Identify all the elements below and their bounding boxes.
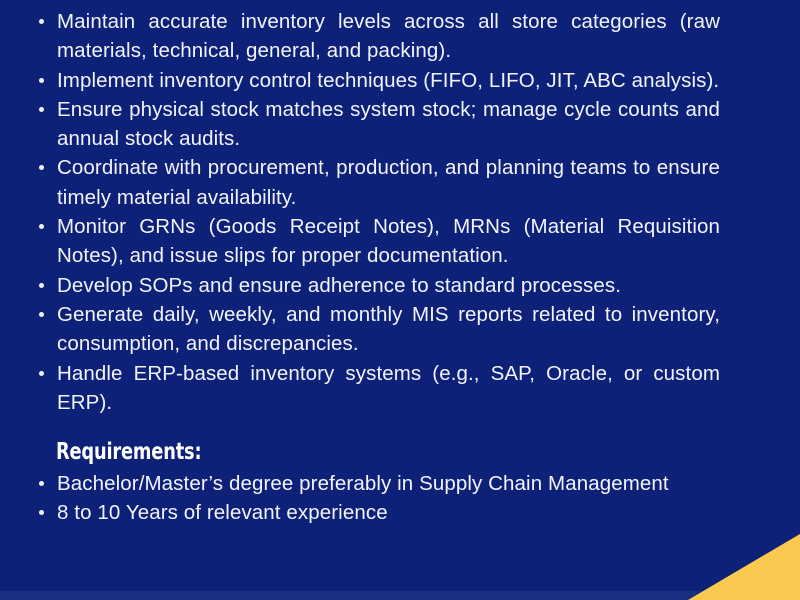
slide-content: Maintain accurate inventory levels acros… xyxy=(0,0,800,528)
list-item: Maintain accurate inventory levels acros… xyxy=(30,7,720,66)
list-item: Coordinate with procurement, production,… xyxy=(30,153,720,212)
bullet-text: Bachelor/Master’s degree preferably in S… xyxy=(57,469,720,498)
list-item: Bachelor/Master’s degree preferably in S… xyxy=(30,469,720,498)
bullet-text: Ensure physical stock matches system sto… xyxy=(57,95,720,154)
list-item: Monitor GRNs (Goods Receipt Notes), MRNs… xyxy=(30,212,720,271)
bullet-text: Develop SOPs and ensure adherence to sta… xyxy=(57,271,720,300)
requirements-section-heading: Requirements: xyxy=(56,439,627,465)
responsibilities-bullet-list: Maintain accurate inventory levels acros… xyxy=(30,7,720,417)
bullet-text: Generate daily, weekly, and monthly MIS … xyxy=(57,300,720,359)
slide-canvas: Maintain accurate inventory levels acros… xyxy=(0,0,800,600)
bullet-text: 8 to 10 Years of relevant experience xyxy=(57,498,720,527)
list-item: Develop SOPs and ensure adherence to sta… xyxy=(30,271,720,300)
list-item: Generate daily, weekly, and monthly MIS … xyxy=(30,300,720,359)
list-item: Implement inventory control techniques (… xyxy=(30,66,720,95)
bullet-text: Handle ERP-based inventory systems (e.g.… xyxy=(57,359,720,418)
list-item: Ensure physical stock matches system sto… xyxy=(30,95,720,154)
bottom-accent-band xyxy=(0,591,800,600)
bullet-text: Implement inventory control techniques (… xyxy=(57,66,720,95)
requirements-bullet-list: Bachelor/Master’s degree preferably in S… xyxy=(30,469,720,528)
bullet-text: Monitor GRNs (Goods Receipt Notes), MRNs… xyxy=(57,212,720,271)
list-item: Handle ERP-based inventory systems (e.g.… xyxy=(30,359,720,418)
bullet-text: Maintain accurate inventory levels acros… xyxy=(57,7,720,66)
bullet-text: Coordinate with procurement, production,… xyxy=(57,153,720,212)
list-item: 8 to 10 Years of relevant experience xyxy=(30,498,720,527)
